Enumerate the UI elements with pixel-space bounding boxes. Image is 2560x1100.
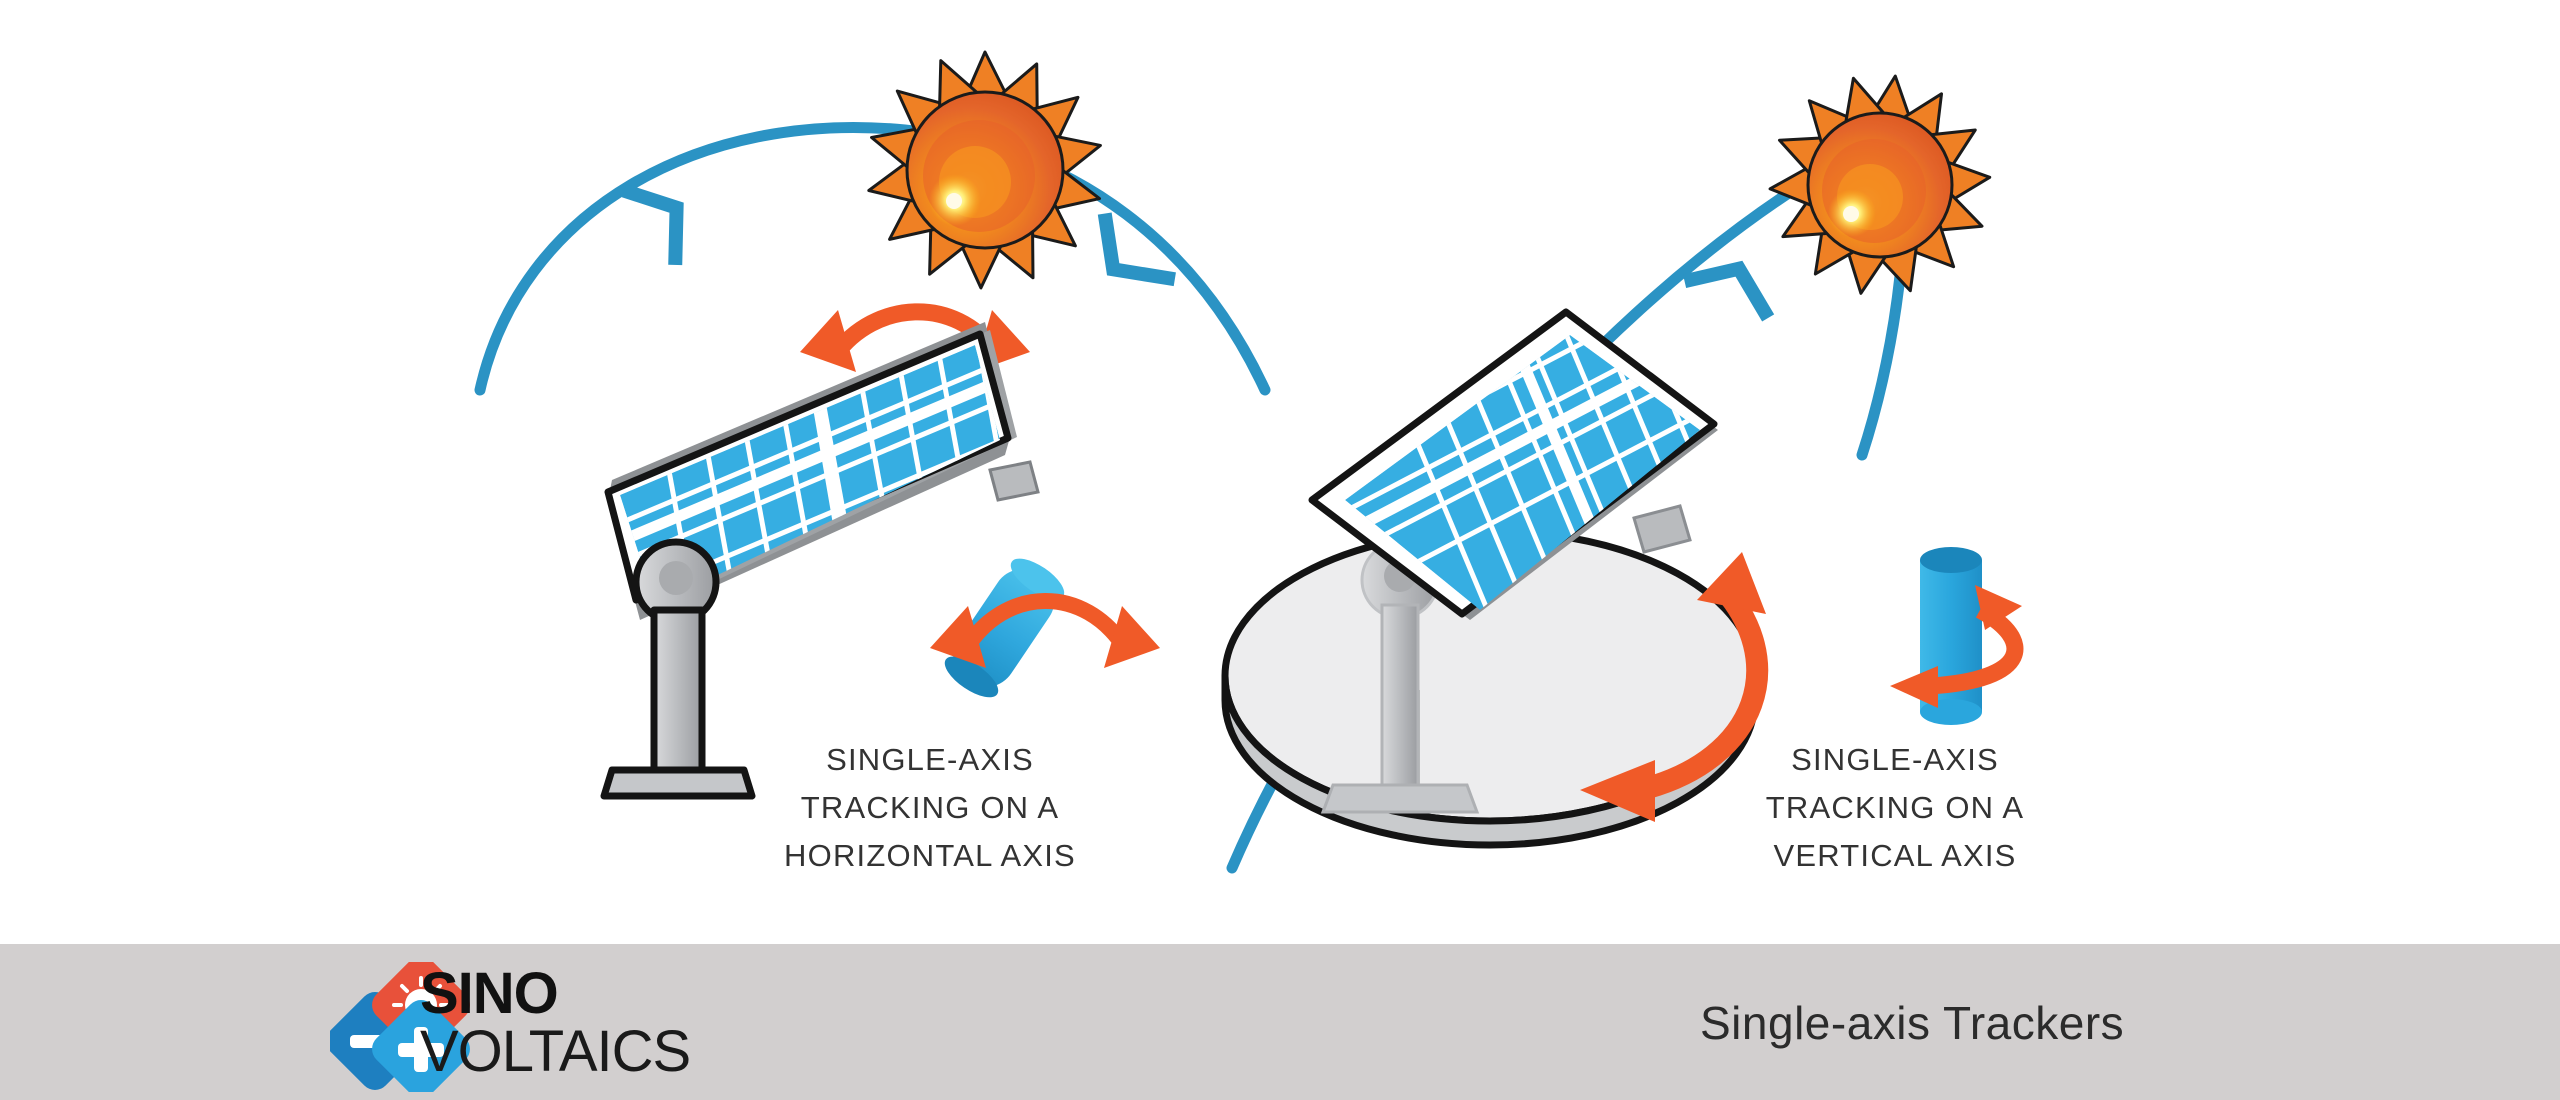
logo-wordmark: SINO VOLTAICS [420, 966, 780, 1091]
sun-icon-right [1769, 73, 1991, 296]
label-vertical-line-2: TRACKING ON A [1745, 784, 2045, 832]
footer-caption: Single-axis Trackers [1700, 996, 2124, 1050]
sun-path-arc-left [480, 127, 1265, 390]
diagram-canvas [0, 0, 2560, 1100]
infographic-stage: SINGLE-AXIS TRACKING ON A HORIZONTAL AXI… [0, 0, 2560, 1100]
label-horizontal-line-2: TRACKING ON A [780, 784, 1080, 832]
label-horizontal-axis: SINGLE-AXIS TRACKING ON A HORIZONTAL AXI… [780, 736, 1080, 880]
label-vertical-line-3: VERTICAL AXIS [1745, 832, 2045, 880]
label-vertical-axis: SINGLE-AXIS TRACKING ON A VERTICAL AXIS [1745, 736, 2045, 880]
vertical-cylinder-icon [1890, 547, 2022, 725]
label-horizontal-line-3: HORIZONTAL AXIS [780, 832, 1080, 880]
label-vertical-line-1: SINGLE-AXIS [1745, 736, 2045, 784]
logo-name-top: SINO [420, 966, 780, 1022]
label-horizontal-line-1: SINGLE-AXIS [780, 736, 1080, 784]
sun-icon-left [865, 52, 1105, 289]
mount-pole-left [604, 542, 752, 796]
horizontal-cylinder-icon [930, 551, 1160, 705]
logo-name-bottom: VOLTAICS [420, 1022, 780, 1082]
